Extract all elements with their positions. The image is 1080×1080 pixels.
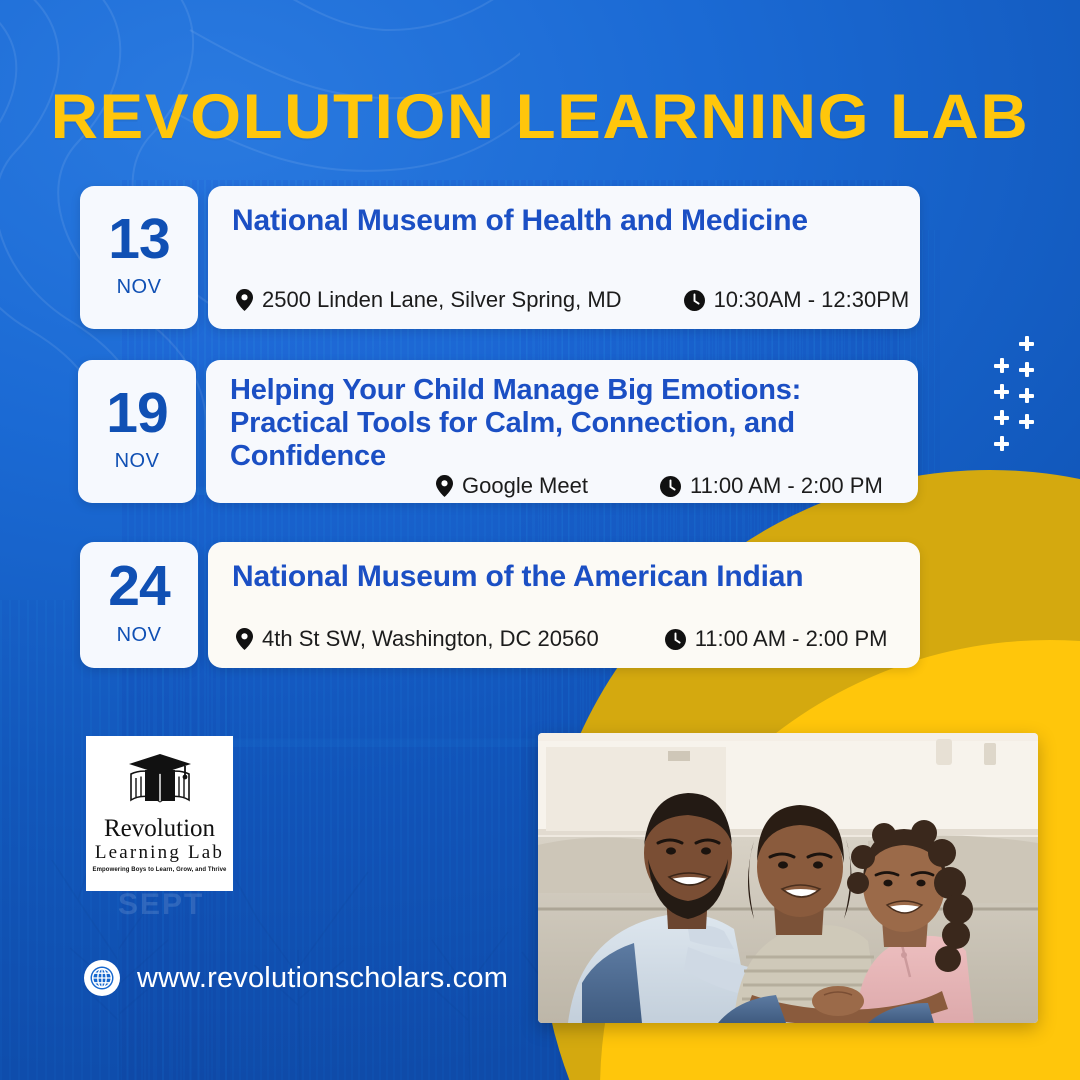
event-location-text: 4th St SW, Washington, DC 20560 [262,626,599,652]
website-link[interactable]: www.revolutionscholars.com [84,960,508,996]
event-title: Helping Your Child Manage Big Emotions: … [230,374,892,473]
event-time: 11:00 AM - 2:00 PM [665,626,888,652]
plus-icon [1019,336,1034,351]
date-day: 24 [108,559,169,613]
map-pin-icon [436,475,453,497]
event-row[interactable]: 24 NOV National Museum of the American I… [80,542,922,668]
plus-icon [994,436,1009,451]
event-time-text: 11:00 AM - 2:00 PM [690,473,883,499]
event-meta: 4th St SW, Washington, DC 20560 11:00 AM… [232,626,894,652]
logo-line-2: Learning Lab [95,841,224,865]
event-time: 11:00 AM - 2:00 PM [660,473,883,499]
map-pin-icon [236,628,253,650]
event-title: National Museum of the American Indian [232,560,894,595]
date-badge: 24 NOV [80,542,198,668]
clock-icon [660,476,681,497]
map-pin-icon [236,289,253,311]
event-row[interactable]: 13 NOV National Museum of Health and Med… [80,186,920,329]
event-card[interactable]: National Museum of Health and Medicine 2… [208,186,920,329]
date-day: 19 [106,386,167,440]
event-title: National Museum of Health and Medicine [232,204,894,239]
globe-icon [84,960,120,996]
plus-icon [1019,414,1034,429]
date-month: NOV [115,450,160,473]
event-location: Google Meet [436,473,588,499]
event-time-text: 11:00 AM - 2:00 PM [695,626,888,652]
poster-canvas: SEPT REVOLUTION LEARNING LAB 13 NOV Nati… [0,0,1080,1080]
event-meta: 2500 Linden Lane, Silver Spring, MD 10:3… [232,287,894,313]
logo[interactable]: Revolution Learning Lab Empowering Boys … [86,736,233,891]
event-time-text: 10:30AM - 12:30PM [714,287,910,313]
graduation-cap-book-icon [127,754,193,813]
date-badge: 19 NOV [78,360,196,503]
plus-icon [1019,388,1034,403]
plus-icon [994,358,1009,373]
date-day: 13 [108,212,169,266]
clock-icon [684,290,705,311]
plus-icon [1019,362,1034,377]
date-month: NOV [117,624,162,647]
event-location-text: 2500 Linden Lane, Silver Spring, MD [262,287,622,313]
event-row[interactable]: 19 NOV Helping Your Child Manage Big Emo… [78,360,923,503]
website-url-text: www.revolutionscholars.com [137,962,508,995]
event-location: 2500 Linden Lane, Silver Spring, MD [236,287,622,313]
event-location-text: Google Meet [462,473,588,499]
ghost-artifact-text: SEPT [118,888,204,922]
event-time: 10:30AM - 12:30PM [684,287,910,313]
decorative-plus-cluster [986,336,1046,446]
page-title: REVOLUTION LEARNING LAB [0,86,1080,149]
event-meta: Google Meet 11:00 AM - 2:00 PM [230,473,892,499]
family-photo [538,733,1038,1023]
event-card[interactable]: National Museum of the American Indian 4… [208,542,920,668]
event-location: 4th St SW, Washington, DC 20560 [236,626,599,652]
clock-icon [665,629,686,650]
date-month: NOV [117,276,162,299]
logo-tagline: Empowering Boys to Learn, Grow, and Thri… [93,867,227,873]
plus-icon [994,384,1009,399]
logo-line-1: Revolution [104,816,215,841]
event-card[interactable]: Helping Your Child Manage Big Emotions: … [206,360,918,503]
date-badge: 13 NOV [80,186,198,329]
plus-icon [994,410,1009,425]
